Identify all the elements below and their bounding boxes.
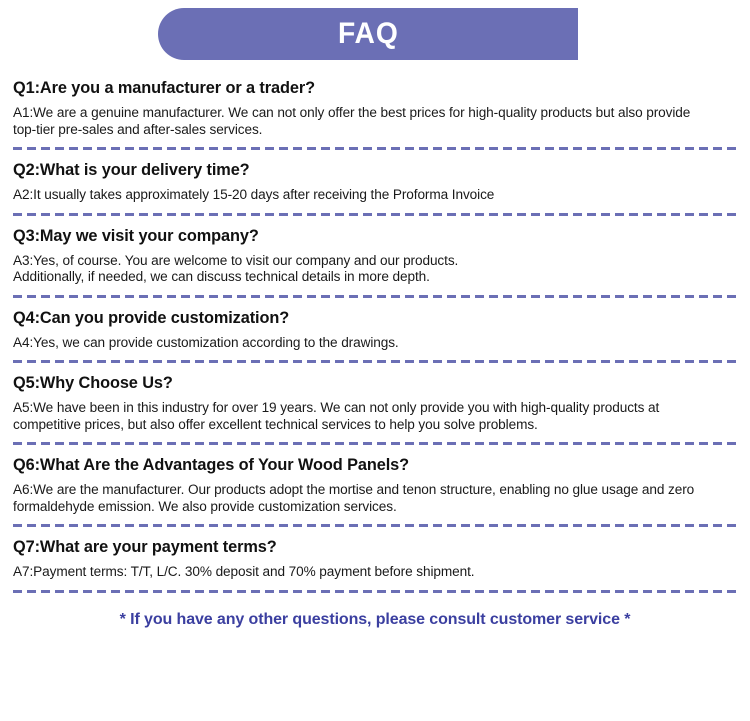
faq-question: Q4:Can you provide customization?: [13, 307, 708, 328]
faq-banner-title: FAQ: [338, 17, 399, 51]
faq-question: Q3:May we visit your company?: [13, 225, 708, 246]
faq-question: Q2:What is your delivery time?: [13, 159, 708, 180]
faq-answer: A4:Yes, we can provide customization acc…: [13, 335, 708, 352]
faq-item: Q4:Can you provide customization? A4:Yes…: [13, 298, 737, 364]
faq-question: Q1:Are you a manufacturer or a trader?: [13, 77, 708, 98]
faq-answer: A1:We are a genuine manufacturer. We can…: [13, 105, 708, 138]
customer-service-note: * If you have any other questions, pleas…: [13, 610, 737, 630]
faq-question: Q6:What Are the Advantages of Your Wood …: [13, 454, 708, 475]
faq-answer: A7:Payment terms: T/T, L/C. 30% deposit …: [13, 564, 708, 581]
faq-answer: A5:We have been in this industry for ove…: [13, 400, 708, 433]
faq-item: Q6:What Are the Advantages of Your Wood …: [13, 445, 737, 527]
faq-item: Q5:Why Choose Us? A5:We have been in thi…: [13, 363, 737, 445]
faq-question: Q7:What are your payment terms?: [13, 536, 708, 557]
faq-question: Q5:Why Choose Us?: [13, 372, 708, 393]
faq-answer: A3:Yes, of course. You are welcome to vi…: [13, 253, 708, 286]
banner-row: FAQ: [0, 0, 750, 68]
faq-item: Q1:Are you a manufacturer or a trader? A…: [13, 68, 737, 150]
faq-answer: A2:It usually takes approximately 15-20 …: [13, 187, 708, 204]
faq-answer: A6:We are the manufacturer. Our products…: [13, 482, 708, 515]
faq-divider: [13, 590, 737, 593]
faq-list: Q1:Are you a manufacturer or a trader? A…: [0, 68, 750, 630]
faq-item: Q2:What is your delivery time? A2:It usu…: [13, 150, 737, 216]
faq-item: Q7:What are your payment terms? A7:Payme…: [13, 527, 737, 593]
faq-page: FAQ Q1:Are you a manufacturer or a trade…: [0, 0, 750, 721]
faq-item: Q3:May we visit your company? A3:Yes, of…: [13, 216, 737, 298]
faq-banner: FAQ: [158, 8, 578, 60]
